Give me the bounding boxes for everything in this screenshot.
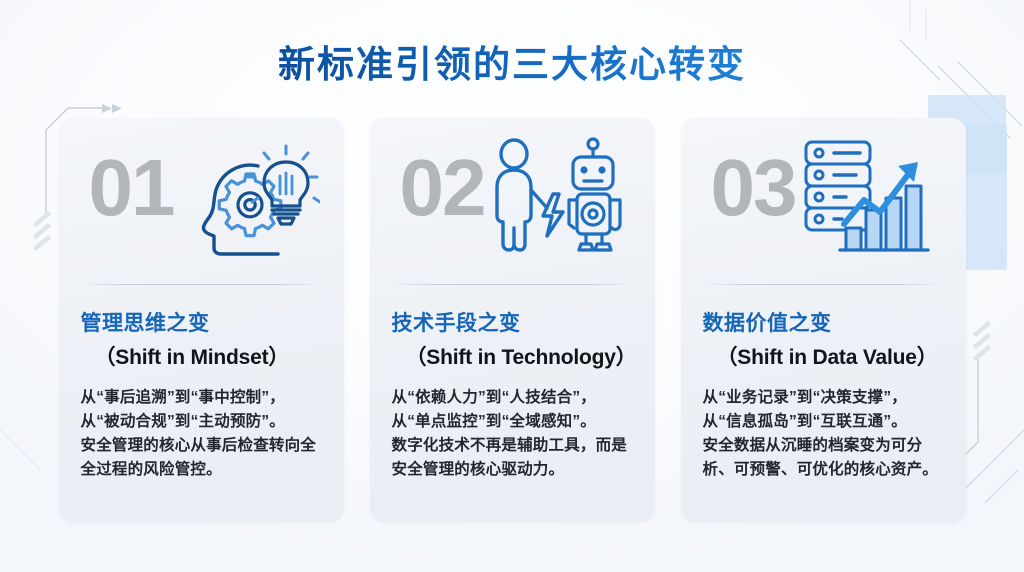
card-01-desc-line-1: 从“事后追溯”到“事中控制”， — [81, 386, 322, 410]
card-01-heading-cn: 管理思维之变 — [81, 307, 322, 337]
card-01-heading-en: （Shift in Mindset） — [81, 341, 322, 371]
card-03-body: 数据价值之变 （Shift in Data Value） 从“业务记录”到“决策… — [703, 285, 944, 482]
card-02[interactable]: 02 — [370, 118, 655, 522]
card-03-heading-en: （Shift in Data Value） — [703, 341, 944, 371]
card-02-desc-line-3: 数字化技术不再是辅助工具，而是安全管理的核心驱动力。 — [392, 434, 633, 482]
card-02-body: 技术手段之变 （Shift in Technology） 从“依赖人力”到“人技… — [392, 285, 633, 482]
server-bar-chart-icon — [792, 132, 942, 262]
card-03-description: 从“业务记录”到“决策支撑”， 从“信息孤岛”到“互联互通”。 安全数据从沉睡的… — [703, 386, 944, 482]
card-02-header: 02 — [392, 118, 633, 284]
card-03-desc-line-3: 安全数据从沉睡的档案变为可分析、可预警、可优化的核心资产。 — [703, 434, 944, 482]
card-02-desc-line-1: 从“依赖人力”到“人技结合”， — [392, 386, 633, 410]
card-03-number: 03 — [711, 148, 796, 228]
card-02-number: 02 — [400, 148, 485, 228]
card-01-desc-line-2: 从“被动合规”到“主动预防”。 — [81, 410, 322, 434]
card-03-desc-line-1: 从“业务记录”到“决策支撑”， — [703, 386, 944, 410]
page-title: 新标准引领的三大核心转变 — [278, 34, 746, 88]
card-03-header: 03 — [703, 118, 944, 284]
card-01[interactable]: 01 — [59, 118, 344, 522]
card-01-body: 管理思维之变 （Shift in Mindset） 从“事后追溯”到“事中控制”… — [81, 285, 322, 482]
human-robot-icon — [481, 132, 631, 262]
head-gear-lightbulb-icon — [170, 132, 320, 262]
card-03-desc-line-2: 从“信息孤岛”到“互联互通”。 — [703, 410, 944, 434]
page-title-container: 新标准引领的三大核心转变 — [0, 34, 1024, 88]
card-03-heading-cn: 数据价值之变 — [703, 307, 944, 337]
card-01-description: 从“事后追溯”到“事中控制”， 从“被动合规”到“主动预防”。 安全管理的核心从… — [81, 386, 322, 482]
card-02-heading-en: （Shift in Technology） — [392, 341, 633, 371]
card-01-header: 01 — [81, 118, 322, 284]
card-03[interactable]: 03 — [681, 118, 966, 522]
card-02-heading-cn: 技术手段之变 — [392, 307, 633, 337]
card-01-desc-line-3: 安全管理的核心从事后检查转向全全过程的风险管控。 — [81, 434, 322, 482]
card-02-desc-line-2: 从“单点监控”到“全域感知”。 — [392, 410, 633, 434]
cards-container: 01 — [0, 118, 1024, 522]
card-02-description: 从“依赖人力”到“人技结合”， 从“单点监控”到“全域感知”。 数字化技术不再是… — [392, 386, 633, 482]
card-01-number: 01 — [89, 148, 174, 228]
